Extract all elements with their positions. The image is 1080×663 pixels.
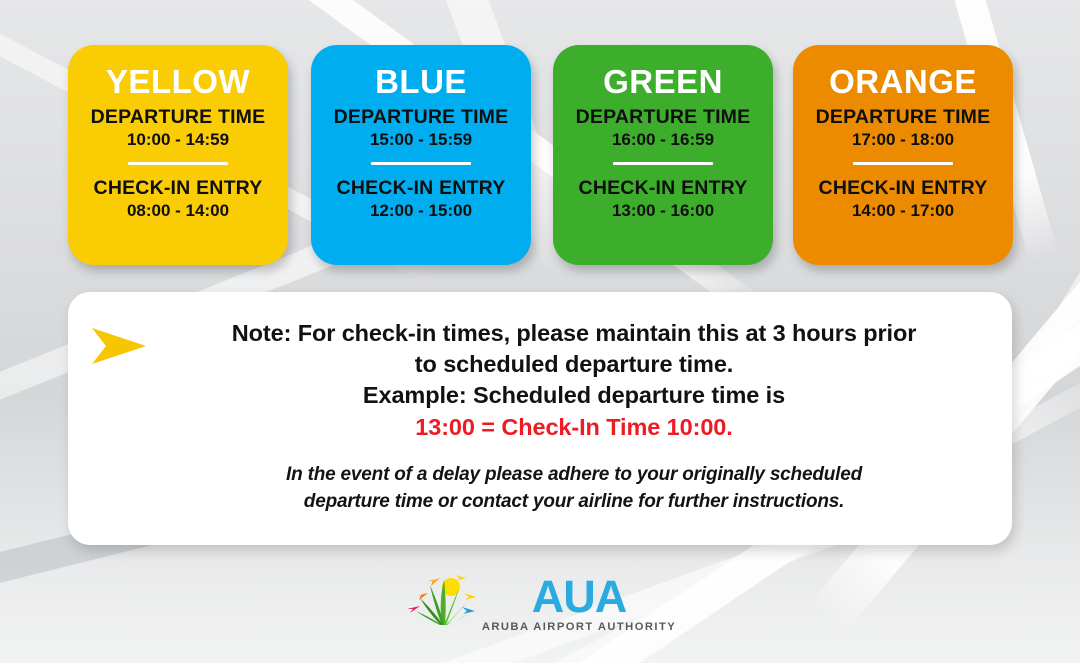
logo-subtitle: ARUBA AIRPORT AUTHORITY bbox=[482, 620, 676, 634]
note-lead-example: Example: bbox=[363, 382, 467, 408]
card-departure-label: DEPARTURE TIME bbox=[793, 105, 1013, 129]
logo-wordmark: AUA bbox=[532, 574, 627, 619]
card-green[interactable]: GREEN DEPARTURE TIME 16:00 - 16:59 CHECK… bbox=[553, 45, 773, 265]
card-checkin-value: 14:00 - 17:00 bbox=[793, 200, 1013, 222]
logo-text-wrap: AUA ARUBA AIRPORT AUTHORITY bbox=[482, 572, 676, 634]
note-panel: Note: For check-in times, please maintai… bbox=[68, 292, 1012, 545]
poster-canvas: YELLOW DEPARTURE TIME 10:00 - 14:59 CHEC… bbox=[0, 0, 1080, 663]
card-checkin-label: CHECK-IN ENTRY bbox=[553, 176, 773, 200]
card-divider bbox=[613, 162, 713, 165]
color-cards-row: YELLOW DEPARTURE TIME 10:00 - 14:59 CHEC… bbox=[0, 0, 1080, 280]
card-divider bbox=[371, 162, 471, 165]
note-line-3: Example: Scheduled departure time is bbox=[156, 380, 992, 411]
card-checkin-value: 13:00 - 16:00 bbox=[553, 200, 773, 222]
card-blue[interactable]: BLUE DEPARTURE TIME 15:00 - 15:59 CHECK-… bbox=[311, 45, 531, 265]
card-checkin-label: CHECK-IN ENTRY bbox=[311, 176, 531, 200]
aua-logo: AUA ARUBA AIRPORT AUTHORITY bbox=[0, 568, 1080, 638]
card-departure-value: 15:00 - 15:59 bbox=[311, 129, 531, 151]
card-checkin-label: CHECK-IN ENTRY bbox=[793, 176, 1013, 200]
card-divider bbox=[853, 162, 953, 165]
card-title: BLUE bbox=[311, 61, 531, 103]
card-departure-label: DEPARTURE TIME bbox=[68, 105, 288, 129]
card-yellow[interactable]: YELLOW DEPARTURE TIME 10:00 - 14:59 CHEC… bbox=[68, 45, 288, 265]
note-line-1-rest: For check-in times, please maintain this… bbox=[291, 320, 916, 346]
note-line-3-rest: Scheduled departure time is bbox=[467, 382, 785, 408]
card-title: GREEN bbox=[553, 61, 773, 103]
logo-inner: AUA ARUBA AIRPORT AUTHORITY bbox=[404, 572, 676, 634]
card-title: ORANGE bbox=[793, 61, 1013, 103]
note-disclaimer-line-1: In the event of a delay please adhere to… bbox=[156, 461, 992, 488]
note-line-1: Note: For check-in times, please maintai… bbox=[156, 318, 992, 349]
aruba-aloe-sun-logo-icon bbox=[404, 572, 480, 630]
note-example-result: 13:00 = Check-In Time 10:00. bbox=[156, 411, 992, 443]
note-disclaimer: In the event of a delay please adhere to… bbox=[156, 461, 992, 515]
card-departure-label: DEPARTURE TIME bbox=[311, 105, 531, 129]
note-line-2: to scheduled departure time. bbox=[156, 349, 992, 380]
card-departure-label: DEPARTURE TIME bbox=[553, 105, 773, 129]
card-checkin-value: 12:00 - 15:00 bbox=[311, 200, 531, 222]
card-checkin-value: 08:00 - 14:00 bbox=[68, 200, 288, 222]
card-departure-value: 10:00 - 14:59 bbox=[68, 129, 288, 151]
note-body: Note: For check-in times, please maintai… bbox=[156, 318, 992, 515]
card-title: YELLOW bbox=[68, 61, 288, 103]
note-disclaimer-line-2: departure time or contact your airline f… bbox=[156, 488, 992, 515]
card-departure-value: 16:00 - 16:59 bbox=[553, 129, 773, 151]
note-lead-note: Note: bbox=[232, 320, 292, 346]
card-orange[interactable]: ORANGE DEPARTURE TIME 17:00 - 18:00 CHEC… bbox=[793, 45, 1013, 265]
card-departure-value: 17:00 - 18:00 bbox=[793, 129, 1013, 151]
card-divider bbox=[128, 162, 228, 165]
card-checkin-label: CHECK-IN ENTRY bbox=[68, 176, 288, 200]
arrow-right-icon bbox=[90, 324, 148, 368]
